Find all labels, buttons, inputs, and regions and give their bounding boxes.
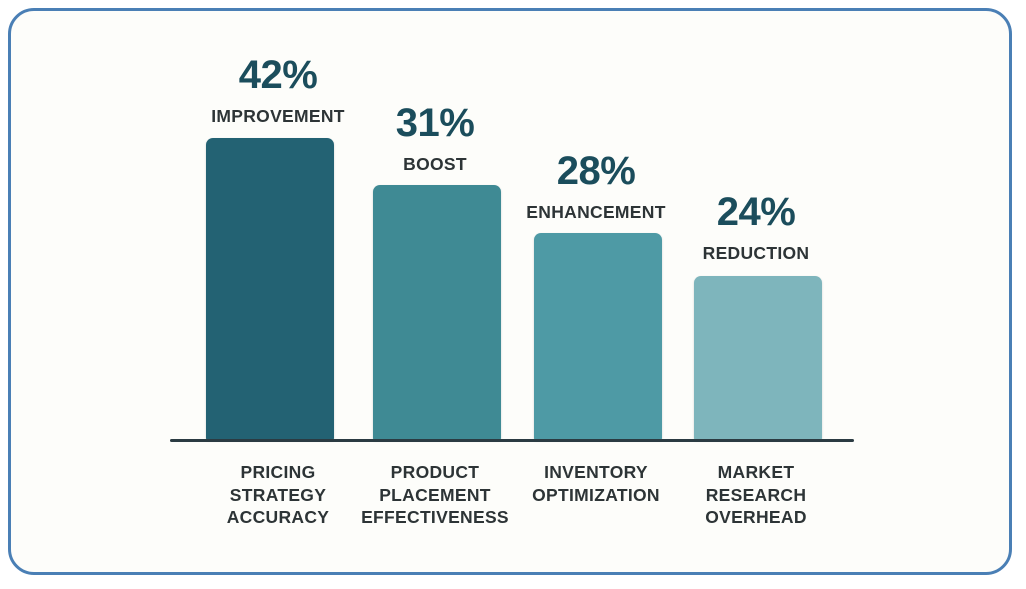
bar-category-label-4: MARKET RESEARCH OVERHEAD — [664, 461, 848, 529]
bar-category-label-3: INVENTORY OPTIMIZATION — [504, 461, 688, 506]
bar-chart: 42% IMPROVEMENT PRICING STRATEGY ACCURAC… — [11, 11, 1012, 575]
bar-annotation-label-4: REDUCTION — [664, 245, 848, 263]
bar-rect-2[interactable] — [373, 185, 501, 440]
bar-value-label-2: 31% — [353, 103, 517, 143]
bar-rect-4[interactable] — [694, 276, 822, 440]
bar-value-label-1: 42% — [196, 55, 360, 95]
bar-category-label-2: PRODUCT PLACEMENT EFFECTIVENESS — [343, 461, 527, 529]
category-line: EFFECTIVENESS — [343, 506, 527, 529]
bar-annotation-label-1: IMPROVEMENT — [186, 108, 370, 126]
category-line: PLACEMENT — [343, 484, 527, 507]
bar-value-label-3: 28% — [514, 151, 678, 191]
axis-baseline — [170, 439, 854, 442]
bar-annotation-label-2: BOOST — [343, 156, 527, 174]
category-line: INVENTORY — [504, 461, 688, 484]
category-line: MARKET — [664, 461, 848, 484]
category-line: RESEARCH — [664, 484, 848, 507]
bar-annotation-label-3: ENHANCEMENT — [504, 204, 688, 222]
category-line: PRODUCT — [343, 461, 527, 484]
bar-value-label-4: 24% — [674, 192, 838, 232]
bar-rect-1[interactable] — [206, 138, 334, 440]
bar-rect-3[interactable] — [534, 233, 662, 440]
infographic-frame: 42% IMPROVEMENT PRICING STRATEGY ACCURAC… — [8, 8, 1012, 575]
category-line: OPTIMIZATION — [504, 484, 688, 507]
category-line: OVERHEAD — [664, 506, 848, 529]
